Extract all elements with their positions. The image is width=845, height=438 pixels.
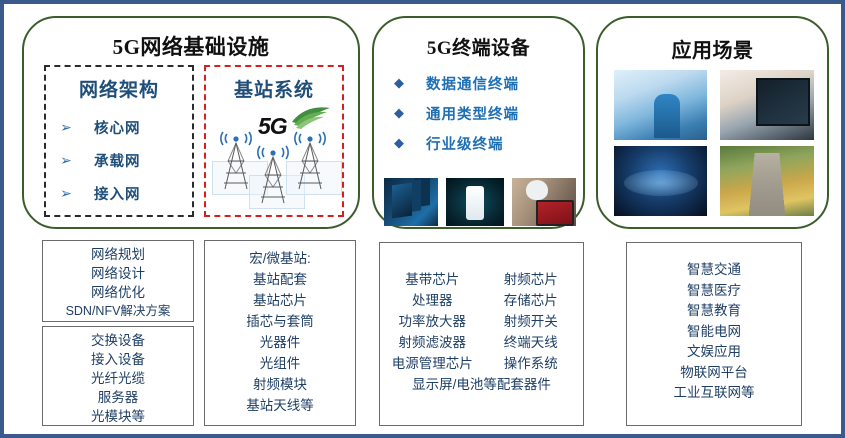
chip-list-box: 基带芯片 射频芯片 处理器 存储芯片 功率放大器 射频开关 射频滤波器 终端天线… — [379, 242, 584, 426]
list-item: ➢ 核心网 — [54, 111, 186, 144]
base-station-tower-icon — [290, 131, 330, 193]
list-item: 电源管理芯片 — [386, 353, 479, 374]
list-item: 文娱应用 — [627, 342, 801, 363]
list-item-label: 承载网 — [78, 150, 141, 171]
arrow-bullet-icon: ➢ — [54, 152, 78, 169]
5g-logo-text: 5G — [258, 113, 287, 140]
base-station-tower-icon — [253, 145, 293, 207]
list-item: 基带芯片 — [386, 269, 479, 290]
panel-infrastructure-title: 5G网络基础设施 — [24, 31, 358, 61]
list-item: SDN/NFV解决方案 — [43, 302, 193, 321]
chip-two-column-grid: 基带芯片 射频芯片 处理器 存储芯片 功率放大器 射频开关 射频滤波器 终端天线… — [380, 269, 583, 374]
list-item: 交换设备 — [43, 331, 193, 350]
cpe-router-photo — [446, 178, 504, 226]
arrow-bullet-icon: ➢ — [54, 119, 78, 136]
smart-hospital-photo — [614, 70, 707, 140]
list-item: 射频芯片 — [485, 269, 578, 290]
list-item: 网络设计 — [43, 264, 193, 283]
list-item: 终端天线 — [485, 332, 578, 353]
panel-scenario-title: 应用场景 — [598, 34, 827, 63]
list-item: 功率放大器 — [386, 311, 479, 332]
list-item: 智能电网 — [627, 322, 801, 343]
application-list-box: 智慧交通 智慧医疗 智慧教育 智能电网 文娱应用 物联网平台 工业互联网等 — [626, 242, 802, 426]
panel-infrastructure: 5G网络基础设施 网络架构 ➢ 核心网 ➢ 承载网 ➢ 接入网 基 — [22, 16, 360, 229]
base-station-tower-icon — [216, 131, 256, 193]
network-architecture-list: ➢ 核心网 ➢ 承载网 ➢ 接入网 — [54, 111, 186, 210]
list-item: 网络规划 — [43, 245, 193, 264]
phones-photo — [384, 178, 438, 226]
list-item: 光纤光缆 — [43, 369, 193, 388]
list-item: ➢ 承载网 — [54, 144, 186, 177]
list-item: 工业互联网等 — [627, 383, 801, 404]
list-item-label: 通用类型终端 — [410, 103, 519, 124]
panel-terminal-devices: 5G终端设备 ◆ 数据通信终端 ◆ 通用类型终端 ◆ 行业级终端 — [372, 16, 585, 229]
list-item: 光模块等 — [43, 407, 193, 426]
base-station-system-box: 基站系统 5G — [204, 65, 344, 217]
smart-city-photo — [614, 146, 707, 216]
infographic-root: 5G网络基础设施 网络架构 ➢ 核心网 ➢ 承载网 ➢ 接入网 基 — [0, 0, 845, 438]
list-item: 接入设备 — [43, 350, 193, 369]
list-item: 处理器 — [386, 290, 479, 311]
list-item-label: 接入网 — [78, 183, 141, 204]
list-item: 智慧医疗 — [627, 281, 801, 302]
base-station-system-title: 基站系统 — [206, 75, 342, 102]
list-item: 插芯与套筒 — [205, 311, 355, 332]
network-architecture-box: 网络架构 ➢ 核心网 ➢ 承载网 ➢ 接入网 — [44, 65, 194, 217]
list-item: 基站芯片 — [205, 290, 355, 311]
panel-application-scenarios: 应用场景 — [596, 16, 829, 229]
network-architecture-title: 网络架构 — [46, 75, 192, 102]
terminal-device-list: ◆ 数据通信终端 ◆ 通用类型终端 ◆ 行业级终端 — [388, 68, 575, 158]
diamond-bullet-icon: ◆ — [388, 135, 410, 151]
diamond-bullet-icon: ◆ — [388, 75, 410, 91]
list-item: 光器件 — [205, 332, 355, 353]
smart-road-photo — [720, 146, 814, 216]
list-item: 基站配套 — [205, 269, 355, 290]
base-station-illustration: 5G — [206, 103, 342, 215]
panel-terminal-title: 5G终端设备 — [374, 33, 583, 60]
list-item: 存储芯片 — [485, 290, 578, 311]
list-item: 基站天线等 — [205, 395, 355, 416]
list-item: 宏/微基站: — [205, 248, 355, 269]
base-station-list-box: 宏/微基站: 基站配套 基站芯片 插芯与套筒 光器件 光组件 射频模块 基站天线… — [204, 240, 356, 426]
diamond-bullet-icon: ◆ — [388, 105, 410, 121]
arrow-bullet-icon: ➢ — [54, 185, 78, 202]
list-item-label: 行业级终端 — [410, 133, 504, 154]
list-item: 操作系统 — [485, 353, 578, 374]
list-item: ◆ 数据通信终端 — [388, 68, 575, 98]
list-item: 智慧教育 — [627, 301, 801, 322]
list-item: 显示屏/电池等配套器件 — [380, 374, 583, 395]
list-item: 服务器 — [43, 388, 193, 407]
list-item-label: 数据通信终端 — [410, 73, 519, 94]
smart-classroom-photo — [720, 70, 814, 140]
list-item: 智慧交通 — [627, 260, 801, 281]
list-item: 网络优化 — [43, 283, 193, 302]
list-item: 射频模块 — [205, 374, 355, 395]
robot-tablet-photo — [512, 178, 576, 226]
equipment-list-box: 交换设备 接入设备 光纤光缆 服务器 光模块等 — [42, 326, 194, 426]
list-item: 射频开关 — [485, 311, 578, 332]
list-item: ◆ 行业级终端 — [388, 128, 575, 158]
list-item: ◆ 通用类型终端 — [388, 98, 575, 128]
planning-list-box: 网络规划 网络设计 网络优化 SDN/NFV解决方案 — [42, 240, 194, 322]
list-item: 物联网平台 — [627, 363, 801, 384]
list-item: 射频滤波器 — [386, 332, 479, 353]
list-item: ➢ 接入网 — [54, 177, 186, 210]
list-item: 光组件 — [205, 353, 355, 374]
list-item-label: 核心网 — [78, 117, 141, 138]
